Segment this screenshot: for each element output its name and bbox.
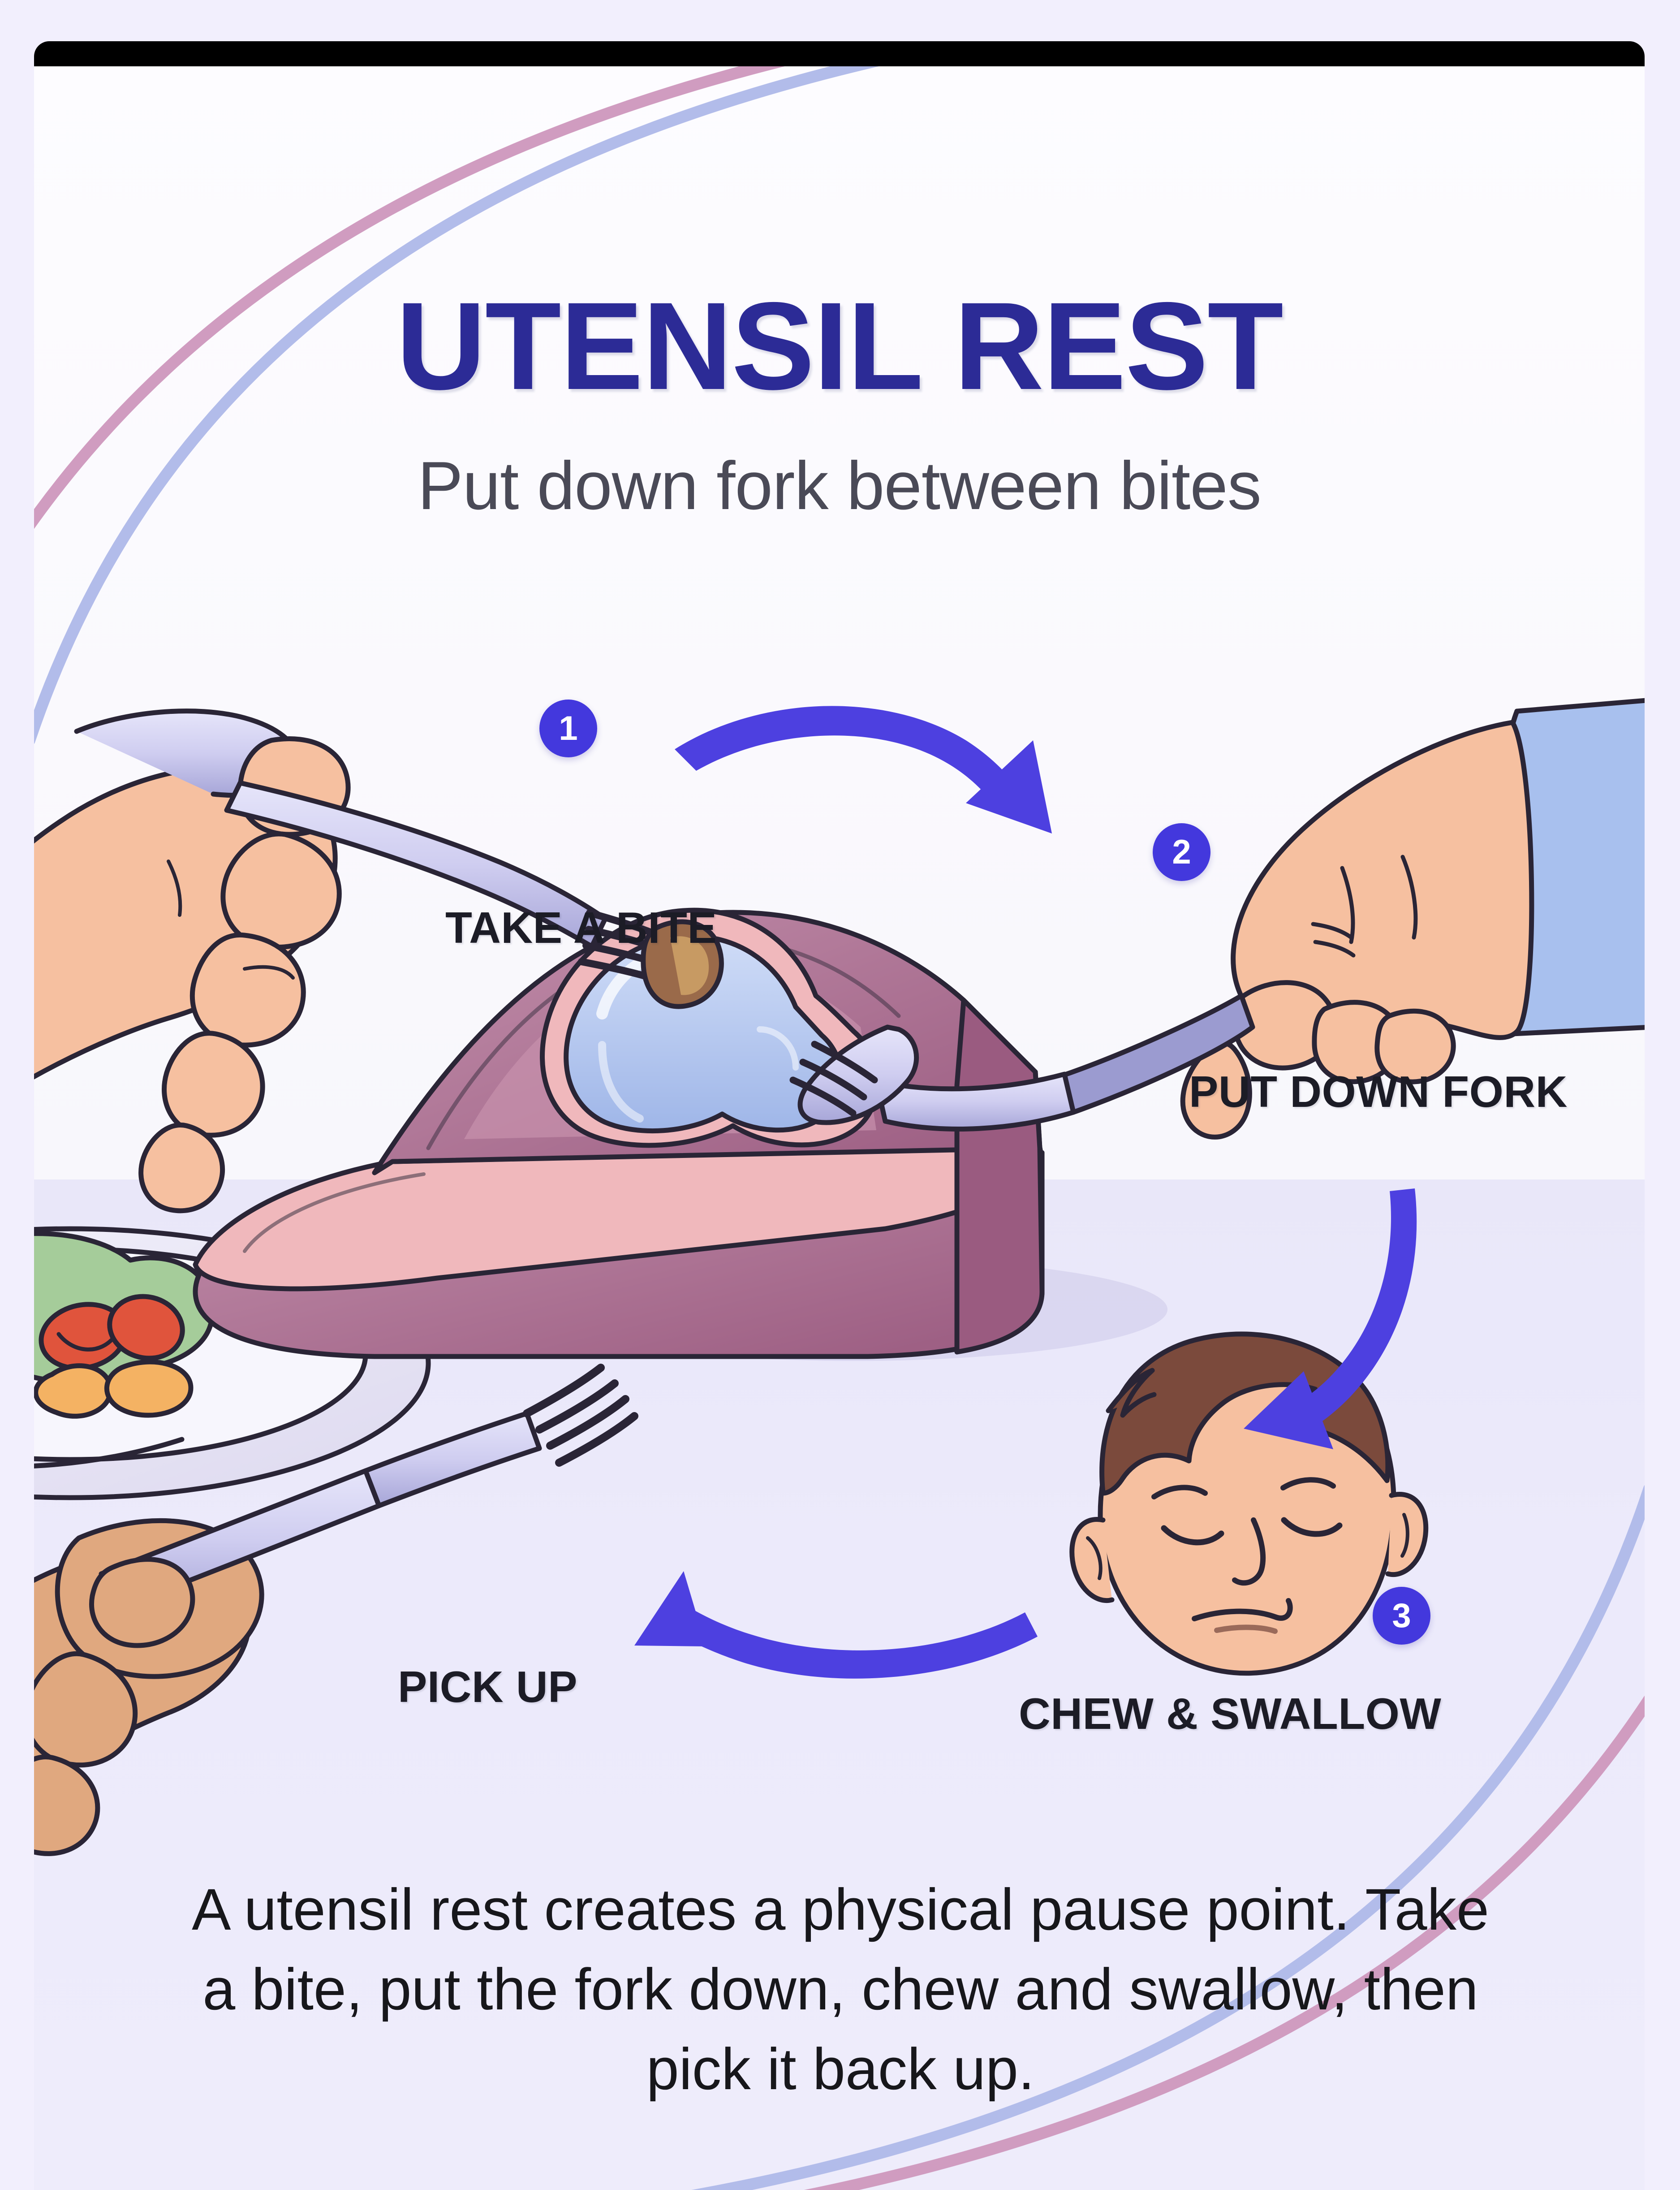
curved-arrow-down-icon bbox=[1244, 1188, 1417, 1449]
step-label-take-a-bite: TAKE A BITE bbox=[445, 903, 717, 953]
top-black-bar bbox=[34, 41, 1645, 66]
curved-arrow-left-icon bbox=[634, 1571, 1038, 1679]
step-badge-3: 3 bbox=[1373, 1587, 1430, 1645]
page-subtitle: Put down fork between bites bbox=[34, 447, 1645, 525]
utensil-rest-object bbox=[195, 910, 1042, 1356]
step-label-put-down-fork: PUT DOWN FORK bbox=[1189, 1067, 1568, 1117]
face-chewing bbox=[1072, 1334, 1426, 1673]
step-label-pick-up: PICK UP bbox=[398, 1662, 577, 1712]
footer-caption: A utensil rest creates a physical pause … bbox=[182, 1870, 1499, 2109]
step-label-chew-and-swallow: CHEW & SWALLOW bbox=[1019, 1689, 1441, 1739]
step-badge-2: 2 bbox=[1153, 823, 1210, 881]
infographic-poster: UTENSIL REST Put down fork between bites… bbox=[34, 41, 1645, 2190]
curved-arrow-right-icon bbox=[675, 706, 1052, 834]
page-title: UTENSIL REST bbox=[34, 274, 1645, 418]
step-badge-1: 1 bbox=[539, 700, 597, 757]
